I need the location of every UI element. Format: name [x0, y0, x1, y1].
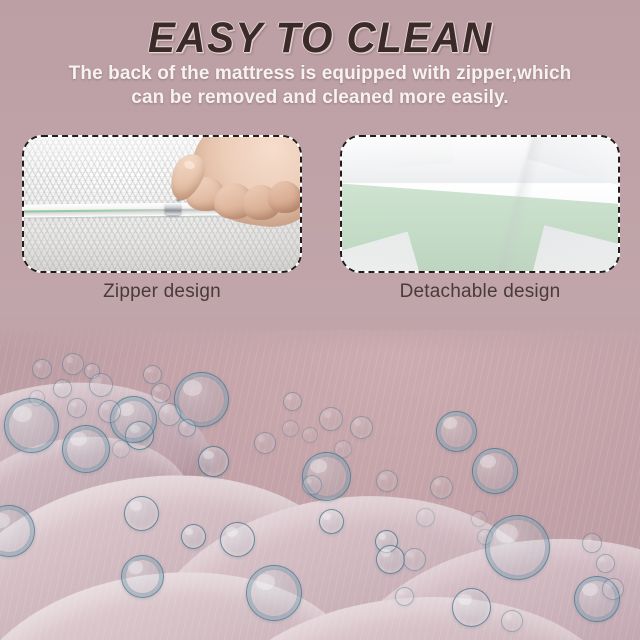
bubble	[181, 524, 206, 549]
bubble	[582, 533, 602, 553]
subtitle: The back of the mattress is equipped wit…	[0, 62, 640, 110]
bubble	[485, 515, 550, 580]
bubble	[602, 578, 624, 600]
bubble	[430, 476, 453, 499]
subtitle-line-2: can be removed and cleaned more easily.	[0, 86, 640, 110]
bubble	[198, 446, 229, 477]
bubble	[246, 565, 302, 621]
bubble	[376, 470, 398, 492]
panel-shading	[342, 137, 618, 271]
detachable-photo	[342, 137, 618, 271]
bubble	[4, 398, 59, 453]
bubble	[62, 353, 84, 375]
bubble	[395, 587, 414, 606]
bubble	[62, 425, 110, 473]
bubble	[302, 427, 318, 443]
bubble	[121, 555, 164, 598]
bubble	[283, 392, 302, 411]
bubble	[471, 511, 487, 527]
caption-zipper-design: Zipper design	[22, 280, 302, 304]
bubble	[32, 359, 52, 379]
bubble	[319, 407, 343, 431]
bubble	[254, 432, 276, 454]
product-banner: EASY TO CLEAN The back of the mattress i…	[0, 0, 640, 640]
bubble	[67, 398, 87, 418]
bubble	[334, 440, 352, 458]
panel-detachable-design	[340, 135, 620, 273]
bubble	[350, 416, 373, 439]
caption-detachable-design: Detachable design	[340, 280, 620, 304]
page-title-container: EASY TO CLEAN	[0, 14, 640, 63]
bubble	[98, 400, 121, 423]
subtitle-line-1: The back of the mattress is equipped wit…	[0, 62, 640, 86]
hand-illustration	[168, 137, 300, 251]
fabric-bubbles-photo	[0, 330, 640, 640]
bubble	[376, 545, 405, 574]
bubble	[472, 448, 518, 494]
bubble	[124, 496, 159, 531]
bubble	[452, 588, 491, 627]
bubble	[501, 610, 523, 632]
zipper-photo	[24, 137, 300, 271]
bubble	[302, 475, 322, 495]
bubble	[477, 529, 493, 545]
bubble	[174, 372, 229, 427]
bubble	[178, 419, 196, 437]
bubble	[112, 440, 130, 458]
bubble	[143, 365, 162, 384]
bubble	[596, 554, 615, 573]
bubble	[436, 411, 477, 452]
bubble	[89, 373, 113, 397]
page-title: EASY TO CLEAN	[148, 14, 493, 63]
finger	[268, 181, 300, 213]
bubble	[403, 548, 426, 571]
bubble	[53, 379, 72, 398]
bubble	[151, 383, 171, 403]
panel-zipper-design	[22, 135, 302, 273]
bubble	[282, 420, 299, 437]
bubble	[29, 390, 45, 406]
bubble	[416, 508, 435, 527]
bubble	[220, 522, 255, 557]
bubble	[158, 403, 181, 426]
bubble	[319, 509, 344, 534]
